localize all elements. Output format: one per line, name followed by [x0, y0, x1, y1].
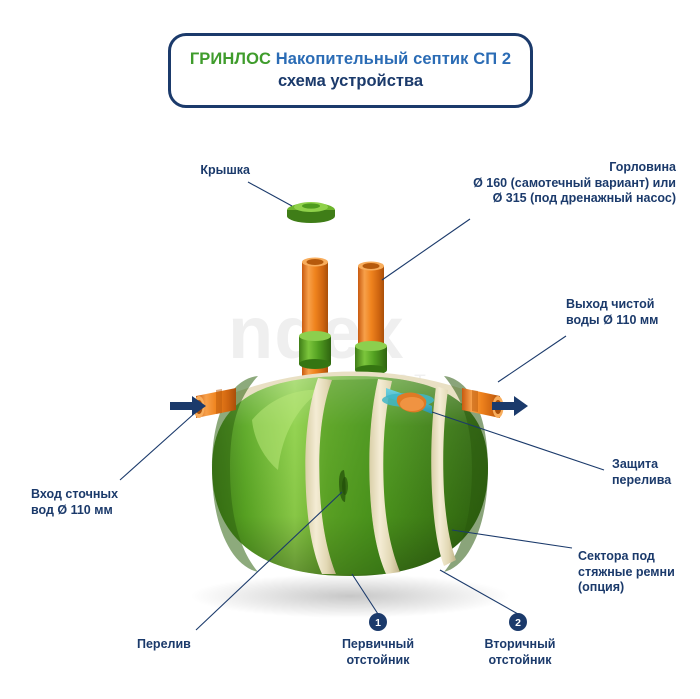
label-primary-settler: Первичный отстойник: [330, 637, 426, 668]
leader-clean-water: [498, 336, 566, 382]
label-belt-sectors: Сектора под стяжные ремни (опция): [578, 549, 700, 596]
label-clean-water-out: Выход чистой воды Ø 110 мм: [566, 297, 694, 328]
label-overflow-protection: Защита перелива: [612, 457, 700, 488]
arrow-inlet: [170, 396, 206, 416]
title-plate: ГРИНЛОС Накопительный септик СП 2 схема …: [168, 33, 533, 108]
title-line-2: схема устройства: [278, 72, 423, 91]
marker-1-badge: 1: [369, 613, 387, 631]
label-secondary-settler: Вторичный отстойник: [470, 637, 570, 668]
title-product: Накопительный септик СП 2: [276, 50, 511, 68]
marker-2-badge: 2: [509, 613, 527, 631]
leader-marker-2: [440, 570, 518, 614]
leader-marker-1: [352, 574, 378, 614]
arrow-outlet: [492, 396, 528, 416]
label-overflow: Перелив: [137, 637, 227, 653]
label-neck: Горловина Ø 160 (самотечный вариант) или…: [404, 160, 676, 207]
leader-overflow-protection: [432, 412, 604, 470]
label-lid: Крышка: [138, 163, 250, 179]
leader-waste-in: [120, 412, 196, 480]
brand-grin: ГРИН: [190, 50, 235, 68]
diagram-canvas: ndex DIRECT: [0, 0, 700, 699]
label-waste-in: Вход сточных вод Ø 110 мм: [31, 487, 157, 518]
leader-neck: [382, 219, 470, 280]
leader-belt-sectors: [452, 530, 572, 548]
leader-overflow: [196, 492, 342, 630]
title-line-1: ГРИНЛОС Накопительный септик СП 2: [190, 50, 511, 70]
brand-los: ЛОС: [234, 50, 271, 68]
marker-2-label: 2: [515, 617, 521, 629]
flow-arrows: [170, 396, 528, 416]
leader-lid: [248, 182, 292, 206]
marker-1-label: 1: [375, 617, 381, 629]
